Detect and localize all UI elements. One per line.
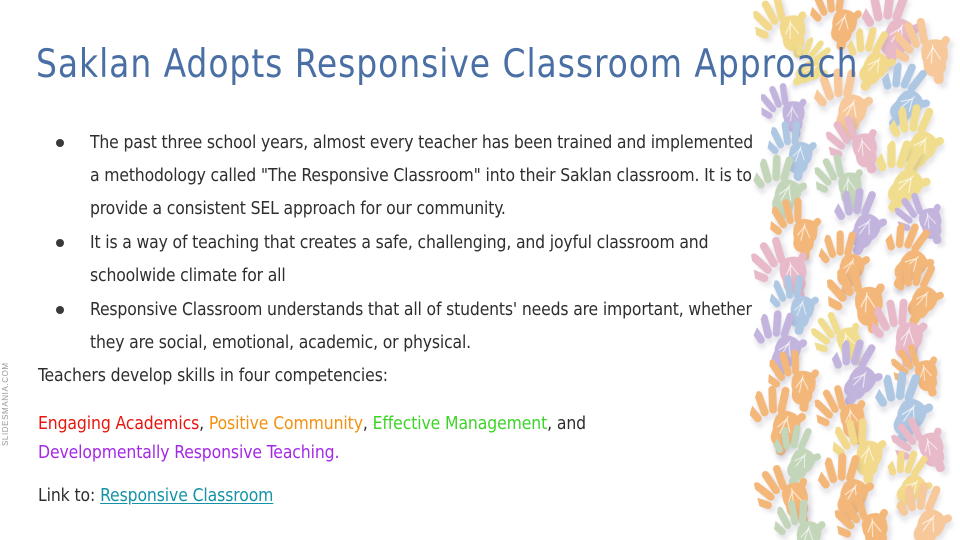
handprint-icon (883, 470, 960, 540)
link-line: Link to: Responsive Classroom (38, 486, 273, 506)
list-item: The past three school years, almost ever… (48, 127, 758, 226)
handprint-icon (847, 0, 946, 78)
handprint-icon (832, 484, 907, 540)
bullet-text: It is a way of teaching that creates a s… (90, 233, 708, 286)
handprint-icon (809, 220, 888, 302)
handprint-icon (866, 290, 944, 372)
handprint-icon (866, 210, 959, 303)
competency-developmentally-responsive-teaching: Developmentally Responsive Teaching. (38, 443, 339, 463)
handprint-icon (857, 126, 958, 227)
competencies-lead-in: Teachers develop skills in four competen… (38, 363, 388, 389)
handprint-icon (862, 50, 955, 143)
handprint-icon (767, 191, 834, 262)
list-item: Responsive Classroom understands that al… (48, 294, 758, 360)
bullet-text: The past three school years, almost ever… (90, 133, 753, 219)
bullet-list: The past three school years, almost ever… (48, 127, 758, 361)
handprint-icon (807, 441, 896, 532)
bullet-dot-icon (56, 139, 64, 147)
handprint-icon (760, 414, 841, 497)
link-prefix-label: Link to: (38, 486, 95, 506)
handprint-icon (874, 91, 960, 186)
slide-content: Saklan Adopts Responsive Classroom Appro… (0, 0, 770, 540)
bullet-text: Responsive Classroom understands that al… (90, 300, 752, 353)
bullet-dot-icon (56, 239, 64, 247)
handprint-icon (886, 403, 960, 484)
list-item: It is a way of teaching that creates a s… (48, 227, 758, 293)
handprint-icon (766, 344, 831, 413)
handprint-icon (769, 492, 840, 540)
handprint-icon (826, 257, 901, 336)
handprint-icon (888, 334, 954, 403)
responsive-classroom-link[interactable]: Responsive Classroom (100, 486, 273, 506)
competencies-list: Engaging Academics, Positive Community, … (38, 410, 738, 468)
competency-separator-1: , (199, 414, 209, 434)
handprint-icon (861, 358, 956, 455)
competency-positive-community: Positive Community (209, 414, 363, 434)
handprint-icon (807, 299, 880, 375)
handprint-icon (815, 327, 907, 420)
handprint-icon (893, 11, 960, 87)
competency-effective-management: Effective Management (373, 414, 548, 434)
handprint-icon (821, 176, 909, 266)
handprint-icon (762, 113, 832, 186)
handprint-icon (829, 411, 902, 487)
handprint-icon (763, 266, 834, 340)
handprint-icon (812, 377, 881, 450)
competency-engaging-academics: Engaging Academics (38, 414, 199, 434)
page-title: Saklan Adopts Responsive Classroom Appro… (36, 42, 858, 87)
handprint-icon (880, 249, 960, 336)
handprint-icon (822, 105, 895, 181)
bullet-dot-icon (56, 306, 64, 314)
handprint-icon (871, 439, 955, 524)
slide: SLIDESMANIA.COM Saklan Adopts Responsive… (0, 0, 960, 540)
competency-separator-2: , (363, 414, 373, 434)
handprint-icon (891, 182, 959, 252)
competency-separator-3: , and (547, 414, 586, 434)
handprint-icon (813, 147, 877, 215)
